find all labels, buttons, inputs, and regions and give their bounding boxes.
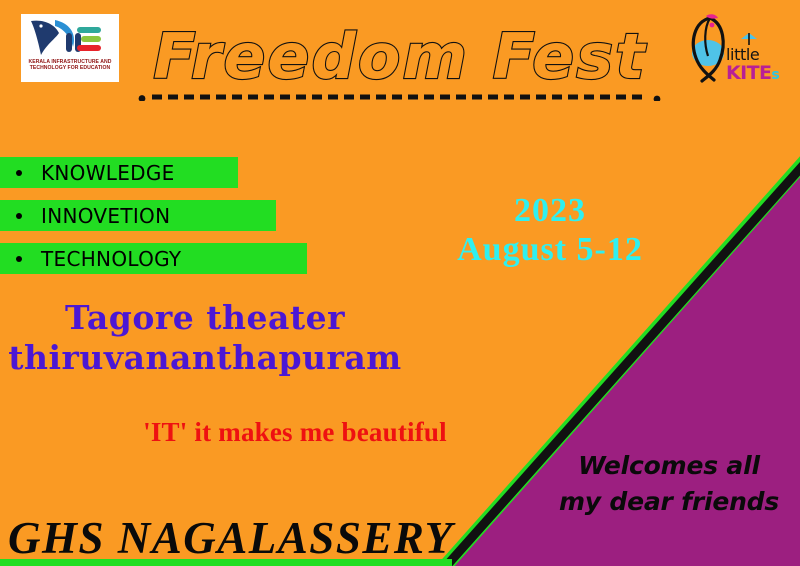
little-kites-word-kites-tail: s	[771, 67, 779, 83]
kite-logo: KERALA INFRASTRUCTURE AND TECHNOLOGY FOR…	[21, 14, 119, 82]
school-name: GHS NAGALASSERY	[8, 512, 454, 564]
list-item: KNOWLEDGE	[0, 157, 238, 188]
list-item-label: INNOVETION	[41, 204, 170, 228]
title-block: Freedom Fest	[130, 22, 670, 104]
event-date-block: 2023 August 5-12	[400, 192, 700, 270]
little-kites-word-kites-main: KITE	[726, 62, 771, 84]
welcome-line-1: Welcomes all	[540, 448, 798, 484]
kite-logo-caption: KERALA INFRASTRUCTURE AND TECHNOLOGY FOR…	[25, 59, 115, 71]
venue-city: thiruvananthapuram	[0, 338, 410, 378]
page-title: Freedom Fest	[130, 22, 670, 92]
list-item-label: KNOWLEDGE	[41, 161, 175, 185]
bullet-dot-icon	[16, 170, 22, 176]
kite-logo-caption-line2: TECHNOLOGY FOR EDUCATION	[25, 65, 115, 71]
list-item-label: TECHNOLOGY	[41, 247, 181, 271]
welcome-message: Welcomes all my dear friends	[540, 448, 798, 520]
list-item: TECHNOLOGY	[0, 243, 307, 274]
title-dashed-underline	[138, 94, 662, 101]
event-year: 2023	[400, 192, 700, 230]
little-kites-word-kites: KITEs	[726, 62, 779, 84]
venue-name: Tagore theater	[0, 298, 410, 338]
little-kites-logo: little KITEs	[680, 12, 784, 88]
kite-logo-mark	[25, 17, 115, 59]
bullet-dot-icon	[16, 256, 22, 262]
list-item: INNOVETION	[0, 200, 276, 231]
venue-block: Tagore theater thiruvananthapuram	[0, 298, 410, 378]
welcome-line-2: my dear friends	[540, 484, 798, 520]
tagline-text: 'IT' it makes me beautiful	[60, 417, 530, 448]
event-date-range: August 5-12	[400, 230, 700, 270]
feature-bullet-list: KNOWLEDGE INNOVETION TECHNOLOGY	[0, 157, 330, 286]
poster-canvas: KERALA INFRASTRUCTURE AND TECHNOLOGY FOR…	[0, 0, 800, 566]
bullet-dot-icon	[16, 213, 22, 219]
